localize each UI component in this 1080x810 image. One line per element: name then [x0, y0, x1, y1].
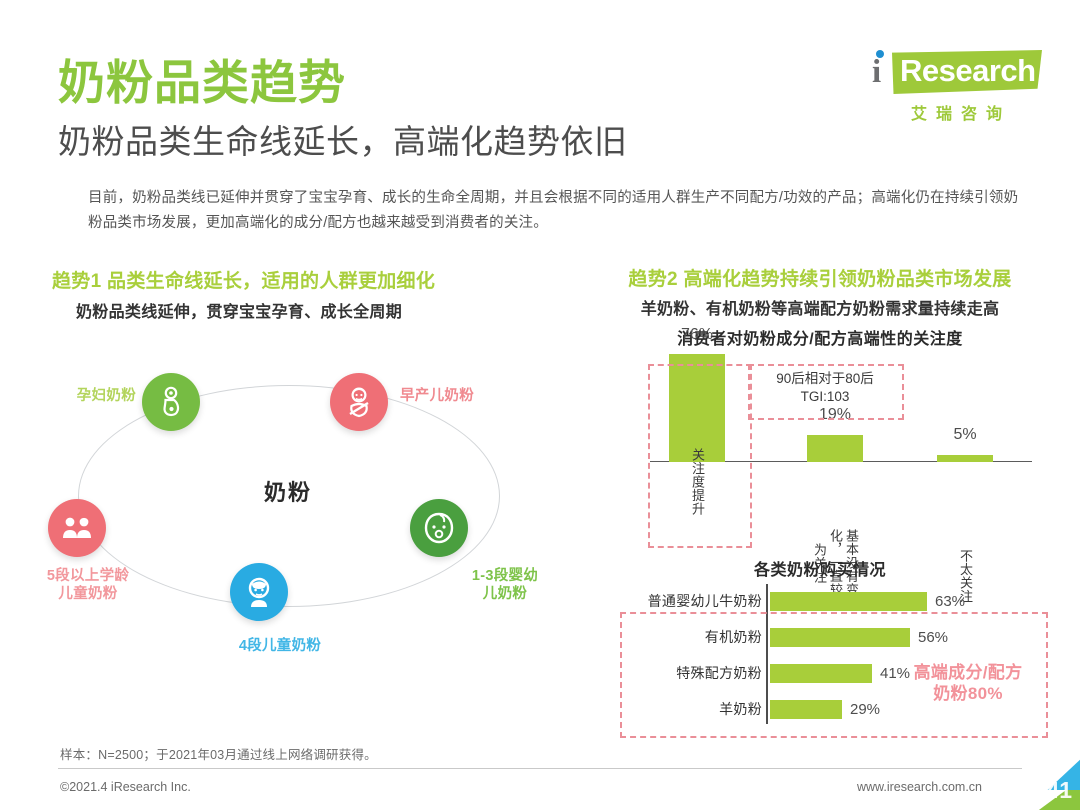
right-section-title: 趋势2 高端化趋势持续引领奶粉品类市场发展	[600, 264, 1040, 291]
column-annotation-line1: 90后相对于80后	[776, 371, 874, 386]
website-text: www.iresearch.com.cn	[857, 780, 982, 794]
node-label-preterm-milk: 早产儿奶粉	[400, 387, 530, 405]
newborn-baby-icon	[341, 384, 377, 420]
column-bar-2[interactable]	[937, 455, 993, 462]
column-group-2: 5% 不太关注	[930, 455, 1000, 462]
chart-title-purchase: 各类奶粉购买情况	[600, 556, 1040, 580]
column-value-0: 76%	[662, 326, 732, 344]
child-face-icon	[241, 574, 277, 610]
two-children-icon	[59, 510, 95, 546]
slide: i Research 艾瑞咨询 奶粉品类趋势 奶粉品类生命线延长，高端化趋势依旧…	[0, 0, 1080, 810]
column-group-1: 19% 为关注 化，一直较 基本没有变	[800, 435, 870, 462]
copyright-text: ©2021.4 iResearch Inc.	[60, 780, 191, 794]
bar-0[interactable]	[770, 592, 927, 611]
node-infant-milk[interactable]	[410, 499, 468, 557]
page-number: 41	[1046, 777, 1072, 804]
left-section-heading: 趋势1 品类生命线延长，适用的人群更加细化 奶粉品类线延伸，贯穿宝宝孕育、成长全…	[52, 266, 435, 322]
node-pregnant-milk[interactable]	[142, 373, 200, 431]
column-bar-1[interactable]	[807, 435, 863, 462]
infant-face-icon	[421, 510, 457, 546]
node-preterm-milk[interactable]	[330, 373, 388, 431]
intro-paragraph: 目前，奶粉品类线已延伸并贯穿了宝宝孕育、成长的生命全周期，并且会根据不同的适用人…	[88, 186, 1028, 236]
lifecycle-diagram: 奶粉 孕妇奶粉 早产儿奶粉	[30, 355, 590, 685]
bar-highlight-line1: 高端成分/配方	[914, 663, 1023, 682]
logo-letter-i: i	[872, 56, 881, 89]
footer-divider	[58, 768, 1022, 769]
node-label-school-line1: 5段以上学龄	[47, 568, 129, 584]
page-title: 奶粉品类趋势	[58, 58, 346, 107]
node-label-pregnant-milk: 孕妇奶粉	[48, 387, 136, 405]
page-subtitle: 奶粉品类生命线延长，高端化趋势依旧	[58, 124, 628, 160]
right-section-heading: 趋势2 高端化趋势持续引领奶粉品类市场发展 羊奶粉、有机奶粉等高端配方奶粉需求量…	[600, 264, 1040, 319]
source-note: 样本：N=2500；于2021年03月通过线上网络调研获得。	[60, 744, 377, 763]
node-label-school-line2: 儿童奶粉	[58, 586, 117, 602]
node-school-age-milk[interactable]	[48, 499, 106, 557]
left-section-title: 趋势1 品类生命线延长，适用的人群更加细化	[52, 266, 435, 293]
node-label-infant-line2: 儿奶粉	[483, 586, 527, 602]
left-section-subtitle: 奶粉品类线延伸，贯穿宝宝孕育、成长全周期	[52, 298, 435, 322]
bar-highlight-line2: 奶粉80%	[933, 684, 1003, 703]
bar-value-0: 63%	[935, 593, 965, 610]
right-section-subtitle: 羊奶粉、有机奶粉等高端配方奶粉需求量持续走高	[600, 295, 1040, 319]
iresearch-logo: i Research 艾瑞咨询	[866, 46, 1048, 128]
logo-chinese-name: 艾瑞咨询	[866, 100, 1048, 124]
node-label-infant-line1: 1-3段婴幼	[472, 568, 538, 584]
column-value-2: 5%	[930, 426, 1000, 444]
column-annotation-text: 90后相对于80后 TGI:103	[752, 370, 898, 405]
logo-research-text: Research	[900, 55, 1036, 86]
node-child-stage4-milk[interactable]	[230, 563, 288, 621]
pregnant-woman-icon	[153, 384, 189, 420]
bar-highlight-text: 高端成分/配方 奶粉80%	[898, 662, 1038, 705]
node-label-school-age-milk: 5段以上学龄 儿童奶粉	[12, 567, 164, 603]
node-label-infant-milk: 1-3段婴幼 儿奶粉	[445, 567, 565, 603]
corner-decoration: 41	[1006, 754, 1080, 810]
column-highlight-box	[648, 364, 752, 548]
logo-wordmark: i Research	[866, 46, 1048, 98]
bar-label-0: 普通婴幼儿牛奶粉	[616, 591, 768, 611]
node-label-child-stage4-milk: 4段儿童奶粉	[180, 637, 380, 655]
column-annotation-line2: TGI:103	[801, 389, 850, 404]
diagram-center-label: 奶粉	[30, 475, 546, 507]
